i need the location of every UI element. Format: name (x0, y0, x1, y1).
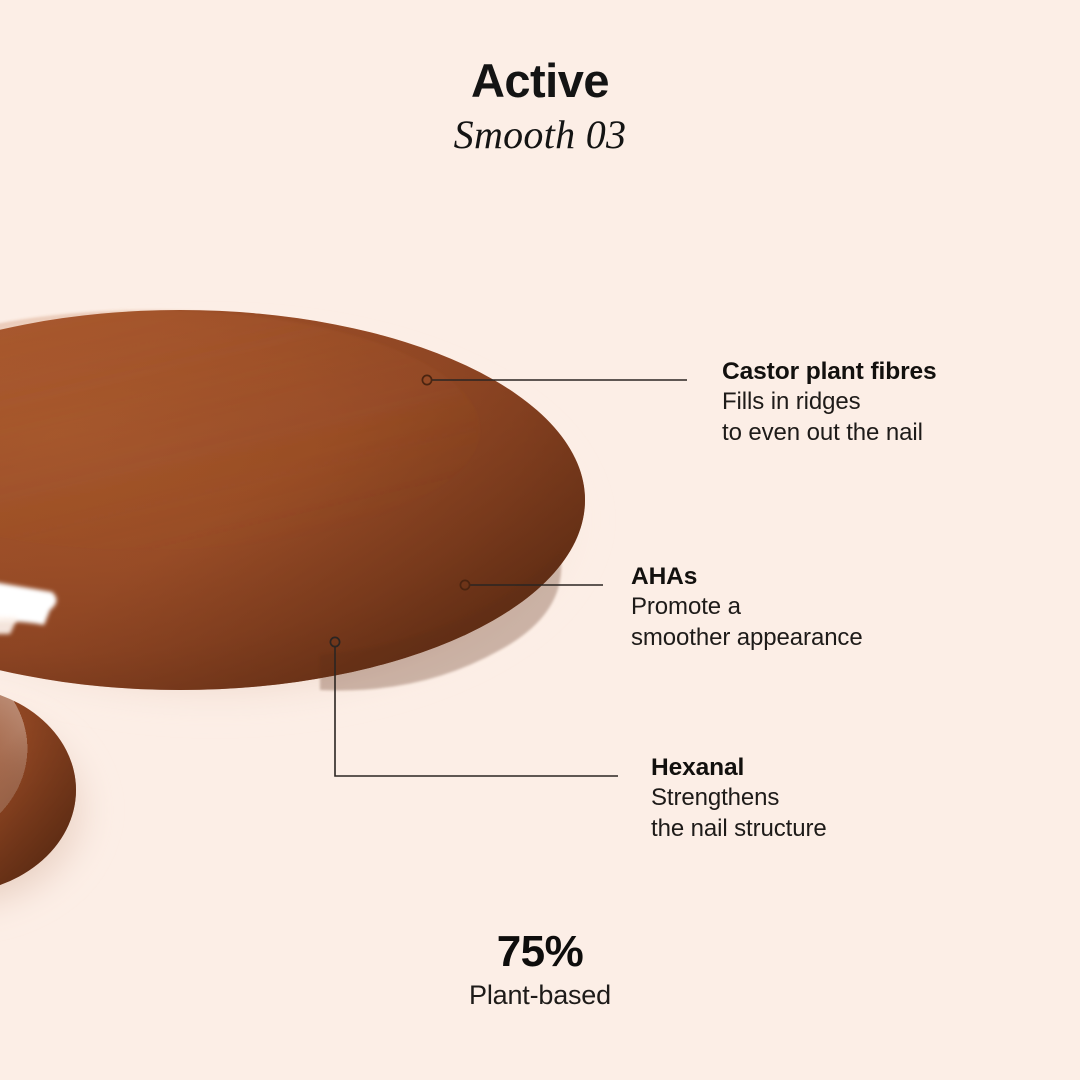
leader-line-hexanal-segment (335, 647, 618, 776)
annotation-title: Hexanal (651, 752, 827, 783)
annotation-line-1: Promote a (631, 592, 863, 623)
leader-line-ahas (460, 580, 603, 589)
annotation-title: AHAs (631, 561, 863, 592)
leader-marker-hexanal (330, 637, 339, 646)
annotation-line-1: Strengthens (651, 783, 827, 814)
annotation-title: Castor plant fibres (722, 356, 937, 387)
annotation-hexanal: Hexanal Strengthens the nail structure (651, 752, 827, 845)
leader-line-hexanal (330, 637, 618, 776)
annotation-ahas: AHAs Promote a smoother appearance (631, 561, 863, 654)
annotation-line-1: Fills in ridges (722, 387, 937, 418)
leader-line-castor (422, 375, 687, 384)
stat-value: 75% (0, 928, 1080, 976)
leader-marker-castor (422, 375, 431, 384)
annotation-line-2: smoother appearance (631, 623, 863, 654)
leader-lines-group (0, 0, 1080, 1080)
product-ingredient-infographic: Active Smooth 03 (0, 0, 1080, 1080)
annotation-line-2: the nail structure (651, 814, 827, 845)
footer-stat-block: 75% Plant-based (0, 928, 1080, 1013)
annotation-castor-plant-fibres: Castor plant fibres Fills in ridges to e… (722, 356, 937, 449)
stat-label: Plant-based (0, 979, 1080, 1013)
annotation-line-2: to even out the nail (722, 418, 937, 449)
leader-marker-ahas (460, 580, 469, 589)
